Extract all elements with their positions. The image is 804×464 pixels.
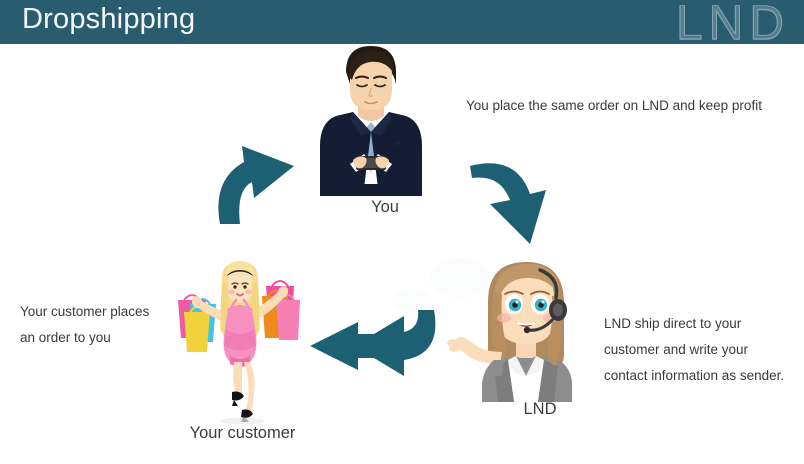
shopper-figure	[170, 256, 310, 424]
node-label-you: You	[330, 198, 440, 217]
businessman-figure	[306, 38, 436, 198]
note-right-line: customer and write your	[604, 337, 784, 363]
page-title: Dropshipping	[22, 3, 195, 36]
customer-service-agent-figure	[444, 252, 594, 402]
note-right: LND ship direct to your customer and wri…	[604, 311, 784, 389]
curved-arrow-left-icon	[306, 306, 442, 380]
node-label-lnd: LND	[470, 400, 610, 419]
dropshipping-diagram-slide: Dropshipping LND	[0, 0, 804, 464]
note-top: You place the same order on LND and keep…	[466, 93, 762, 119]
note-left-line: Your customer places	[20, 299, 149, 325]
note-right-line: contact information as sender.	[604, 363, 784, 389]
curved-arrow-down-right-icon	[468, 152, 582, 246]
note-left-line: an order to you	[20, 325, 149, 351]
note-left: Your customer places an order to you	[20, 299, 149, 351]
curved-arrow-up-right-icon	[198, 132, 310, 224]
note-right-line: LND ship direct to your	[604, 311, 784, 337]
brand-logo-lnd: LND	[676, 0, 790, 51]
node-label-your-customer: Your customer	[160, 424, 325, 443]
